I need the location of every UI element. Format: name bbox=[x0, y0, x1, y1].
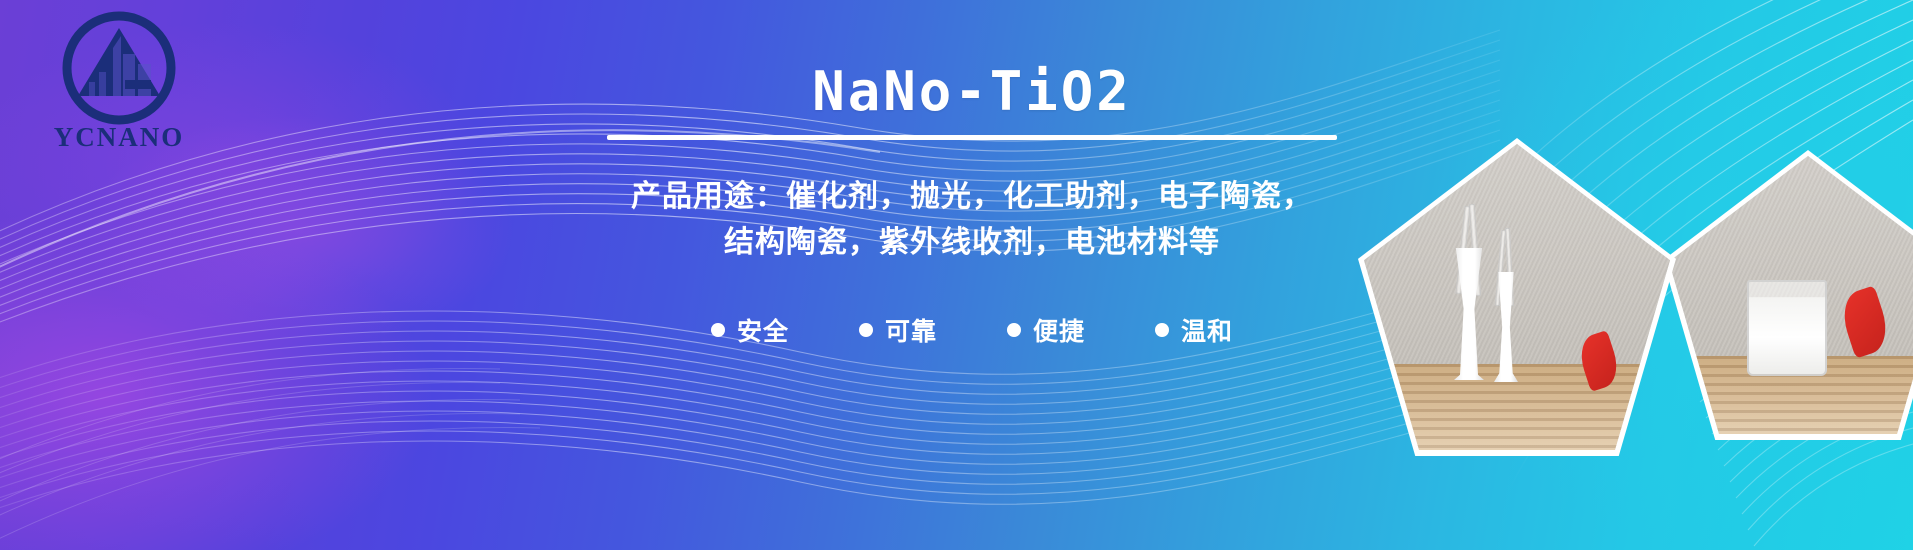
product-usage-text: 产品用途：催化剂，抛光，化工助剂，电子陶瓷， 结构陶瓷，紫外线收剂，电池材料等 bbox=[482, 174, 1462, 265]
product-banner: YCNANO NaNo-TiO2 产品用途：催化剂，抛光，化工助剂，电子陶瓷， … bbox=[0, 0, 1913, 550]
bullet-dot-icon bbox=[859, 323, 873, 337]
bullet-dot-icon bbox=[1007, 323, 1021, 337]
usage-line-1: 产品用途：催化剂，抛光，化工助剂，电子陶瓷， bbox=[482, 174, 1462, 220]
bullet-dot-icon bbox=[711, 323, 725, 337]
hero-content: NaNo-TiO2 产品用途：催化剂，抛光，化工助剂，电子陶瓷， 结构陶瓷，紫外… bbox=[482, 62, 1462, 348]
feature-item-kekao[interactable]: 可靠 bbox=[859, 312, 937, 348]
usage-line-2: 结构陶瓷，紫外线收剂，电池材料等 bbox=[482, 220, 1462, 266]
beaker-icon bbox=[1747, 280, 1827, 376]
brand-wordmark: YCNANO bbox=[44, 122, 194, 153]
bullet-dot-icon bbox=[1155, 323, 1169, 337]
feature-label: 安全 bbox=[737, 312, 789, 348]
feature-item-wenhe[interactable]: 温和 bbox=[1155, 312, 1233, 348]
feature-label: 温和 bbox=[1181, 312, 1233, 348]
photo-table-surface bbox=[1364, 364, 1670, 450]
feature-label: 便捷 bbox=[1033, 312, 1085, 348]
feature-item-anquan[interactable]: 安全 bbox=[711, 312, 789, 348]
page-title: NaNo-TiO2 bbox=[482, 62, 1462, 121]
feature-list: 安全 可靠 便捷 温和 bbox=[482, 312, 1462, 348]
title-divider bbox=[607, 135, 1337, 140]
feature-label: 可靠 bbox=[885, 312, 937, 348]
feature-item-bianjie[interactable]: 便捷 bbox=[1007, 312, 1085, 348]
ycnano-triangle-circle-logo-icon bbox=[59, 8, 179, 128]
brand-logo[interactable]: YCNANO bbox=[44, 8, 194, 158]
